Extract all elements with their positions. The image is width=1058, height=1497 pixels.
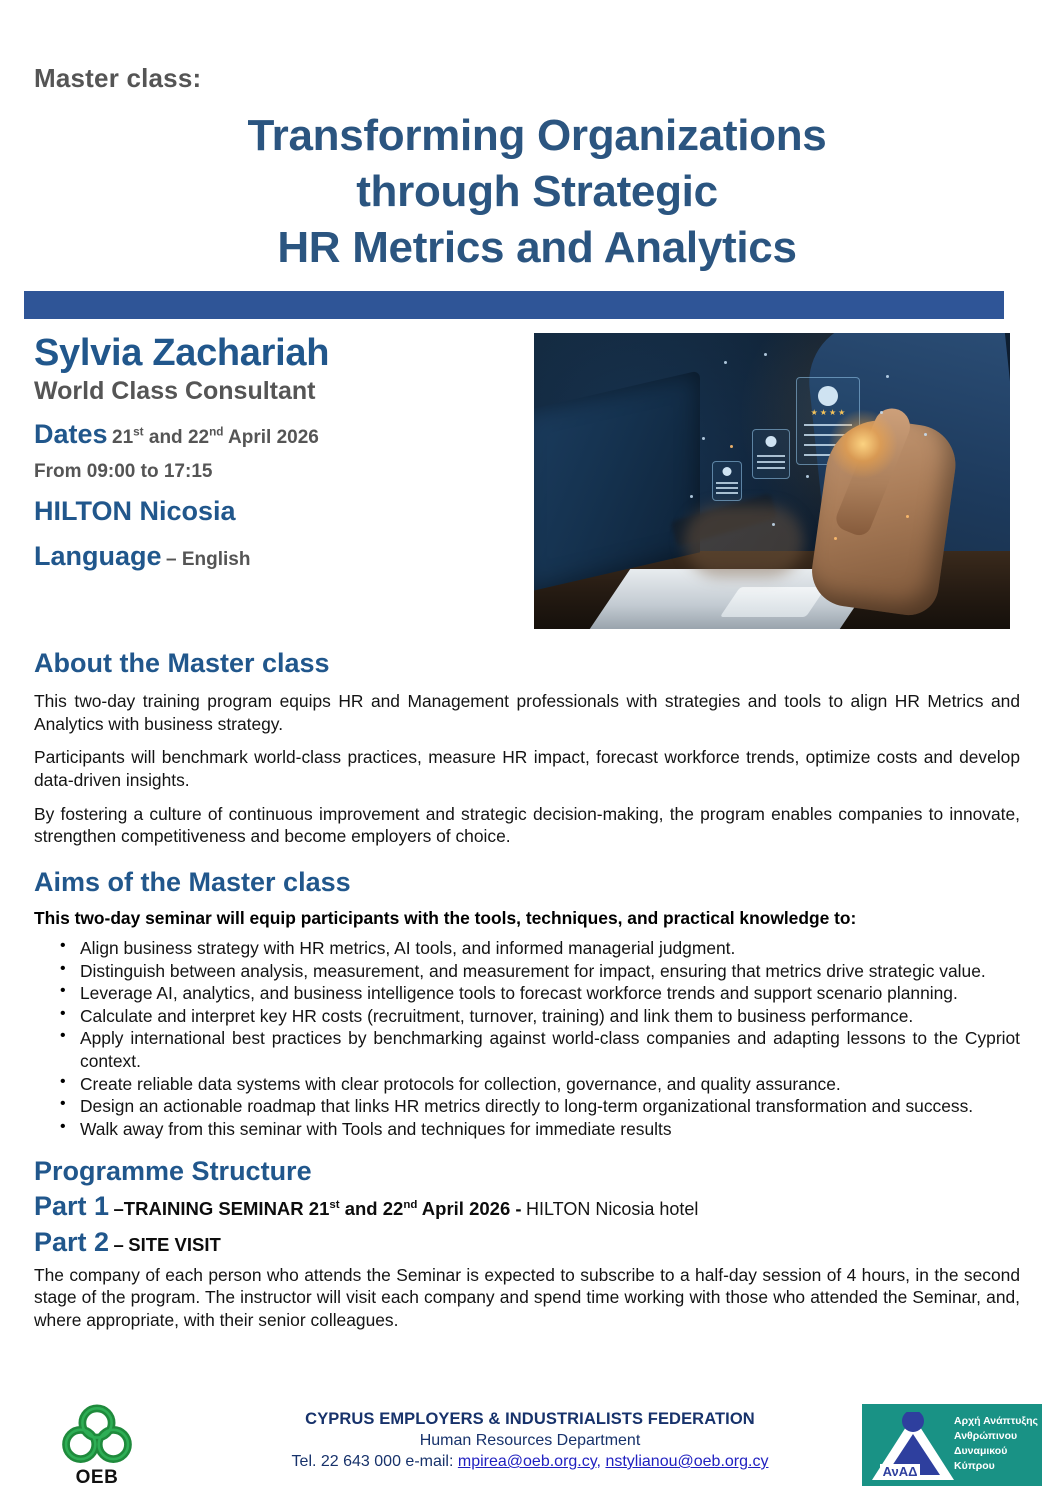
part-1-detail: –TRAINING SEMINAR 21st and 22nd April 20… [114, 1198, 522, 1219]
page-title: Transforming Organizations through Strat… [34, 108, 1020, 276]
part-1-sup-nd: nd [403, 1199, 417, 1211]
master-class-kicker: Master class: [34, 0, 1020, 94]
anad-line-1: Αρχή Ανάπτυξης [954, 1414, 1042, 1429]
dates-value: 21st and 22nd April 2026 [112, 427, 319, 448]
photo-scene: ★★★★ [534, 333, 1010, 629]
speaker-and-photo-row: Sylvia Zachariah World Class Consultant … [34, 333, 1020, 629]
flyer-page: Master class: Transforming Organizations… [0, 0, 1058, 1497]
title-line-2: through Strategic [54, 164, 1020, 220]
anad-line-4: Κύπρου [954, 1459, 1042, 1474]
user-icon [723, 467, 732, 476]
dates-label: Dates [34, 419, 108, 449]
accent-divider-bar [24, 291, 1004, 319]
list-item: Design an actionable roadmap that links … [80, 1095, 1020, 1118]
anad-line-2: Ανθρώπινου [954, 1429, 1042, 1444]
page-footer: OEB CYPRUS EMPLOYERS & INDUSTRIALISTS FE… [0, 1398, 1058, 1497]
photo-particle [906, 515, 909, 518]
about-paragraph-1: This two-day training program equips HR … [34, 690, 1020, 735]
speaker-role: World Class Consultant [34, 377, 524, 406]
anad-tagline: Αρχή Ανάπτυξης Ανθρώπινου Δυναμικού Κύπρ… [954, 1414, 1042, 1474]
photo-particle [730, 445, 733, 448]
photo-particle [880, 411, 883, 414]
rating-stars: ★★★★ [811, 408, 846, 417]
photo-particle [772, 523, 775, 526]
profile-card-small-left [712, 461, 742, 501]
list-item: Align business strategy with HR metrics,… [80, 937, 1020, 960]
programme-heading: Programme Structure [34, 1155, 1020, 1187]
anad-abbr-text: ΑνΑΔ [883, 1464, 918, 1479]
venue-line: HILTON Nicosia [34, 496, 524, 528]
part-2-dash: – [114, 1234, 124, 1255]
contact-line: Tel. 22 643 000 e-mail: mpirea@oeb.org.c… [230, 1453, 830, 1471]
photo-particle [924, 433, 927, 436]
time-line: From 09:00 to 17:15 [34, 461, 524, 483]
title-line-1: Transforming Organizations [54, 108, 1020, 164]
user-icon [766, 436, 777, 447]
card-line [757, 467, 784, 469]
photo-particle [834, 537, 837, 540]
footer-contact-block: CYPRUS EMPLOYERS & INDUSTRIALISTS FEDERA… [230, 1410, 830, 1471]
oeb-knot-icon [54, 1404, 140, 1466]
language-value: – English [166, 549, 250, 570]
about-heading: About the Master class [34, 647, 1020, 679]
anad-triangle-icon: ΑνΑΔ [870, 1412, 956, 1482]
card-line [716, 482, 737, 484]
part-1-sup-st: st [329, 1199, 339, 1211]
part-1-venue: HILTON Nicosia hotel [526, 1199, 698, 1219]
dates-sup-nd: nd [209, 425, 223, 438]
card-line [757, 461, 784, 463]
photo-touch-glow [828, 409, 898, 479]
list-item: Leverage AI, analytics, and business int… [80, 982, 1020, 1005]
language-line: Language – English [34, 541, 524, 573]
about-paragraph-3: By fostering a culture of continuous imp… [34, 803, 1020, 848]
anad-line-3: Δυναμικού [954, 1444, 1042, 1459]
part-1-label: Part 1 [34, 1191, 109, 1221]
list-item: Distinguish between analysis, measuremen… [80, 960, 1020, 983]
organization-name: CYPRUS EMPLOYERS & INDUSTRIALISTS FEDERA… [230, 1410, 830, 1429]
email-link-2[interactable]: nstylianou@oeb.org.cy [605, 1453, 768, 1470]
card-line [757, 455, 784, 457]
dates-line: Dates 21st and 22nd April 2026 [34, 419, 524, 451]
aims-heading: Aims of the Master class [34, 866, 1020, 898]
speaker-name: Sylvia Zachariah [34, 333, 524, 374]
card-line [716, 487, 737, 489]
contact-prefix: Tel. 22 643 000 e-mail: [292, 1453, 454, 1470]
language-label: Language [34, 541, 162, 571]
programme-part-2: Part 2 – SITE VISIT [34, 1227, 1020, 1259]
list-item: Create reliable data systems with clear … [80, 1073, 1020, 1096]
part-2-detail: SITE VISIT [128, 1234, 221, 1255]
department-name: Human Resources Department [230, 1432, 830, 1450]
about-paragraph-2: Participants will benchmark world-class … [34, 746, 1020, 791]
photo-particle [806, 475, 809, 478]
oeb-logo-text: OEB [42, 1467, 152, 1489]
photo-blurred-hand [684, 505, 804, 577]
hr-analytics-photo: ★★★★ [534, 333, 1010, 629]
aims-list: Align business strategy with HR metrics,… [34, 937, 1020, 1141]
oeb-logo: OEB [42, 1404, 152, 1489]
aims-lead: This two-day seminar will equip particip… [34, 907, 1020, 930]
photo-particle [886, 375, 889, 378]
programme-part-1: Part 1 –TRAINING SEMINAR 21st and 22nd A… [34, 1191, 1020, 1223]
part-2-body: The company of each person who attends t… [34, 1264, 1020, 1332]
profile-card-mid-left [752, 429, 790, 479]
photo-particle [724, 361, 727, 364]
venue-name: HILTON Nicosia [34, 496, 236, 526]
photo-particle [764, 353, 767, 356]
anad-logo: ΑνΑΔ Αρχή Ανάπτυξης Ανθρώπινου Δυναμικού… [862, 1404, 1042, 1486]
dates-sup-st: st [133, 425, 143, 438]
title-line-3: HR Metrics and Analytics [54, 220, 1020, 276]
card-line [716, 492, 737, 494]
list-item: Walk away from this seminar with Tools a… [80, 1118, 1020, 1141]
photo-particle [702, 437, 705, 440]
user-icon [818, 386, 838, 406]
part-2-label: Part 2 [34, 1227, 109, 1257]
email-link-1[interactable]: mpirea@oeb.org.cy, [458, 1453, 601, 1470]
photo-particle [690, 495, 693, 498]
list-item: Calculate and interpret key HR costs (re… [80, 1005, 1020, 1028]
list-item: Apply international best practices by be… [80, 1027, 1020, 1072]
speaker-details: Sylvia Zachariah World Class Consultant … [34, 333, 534, 629]
page-content: Master class: Transforming Organizations… [34, 0, 1020, 1497]
